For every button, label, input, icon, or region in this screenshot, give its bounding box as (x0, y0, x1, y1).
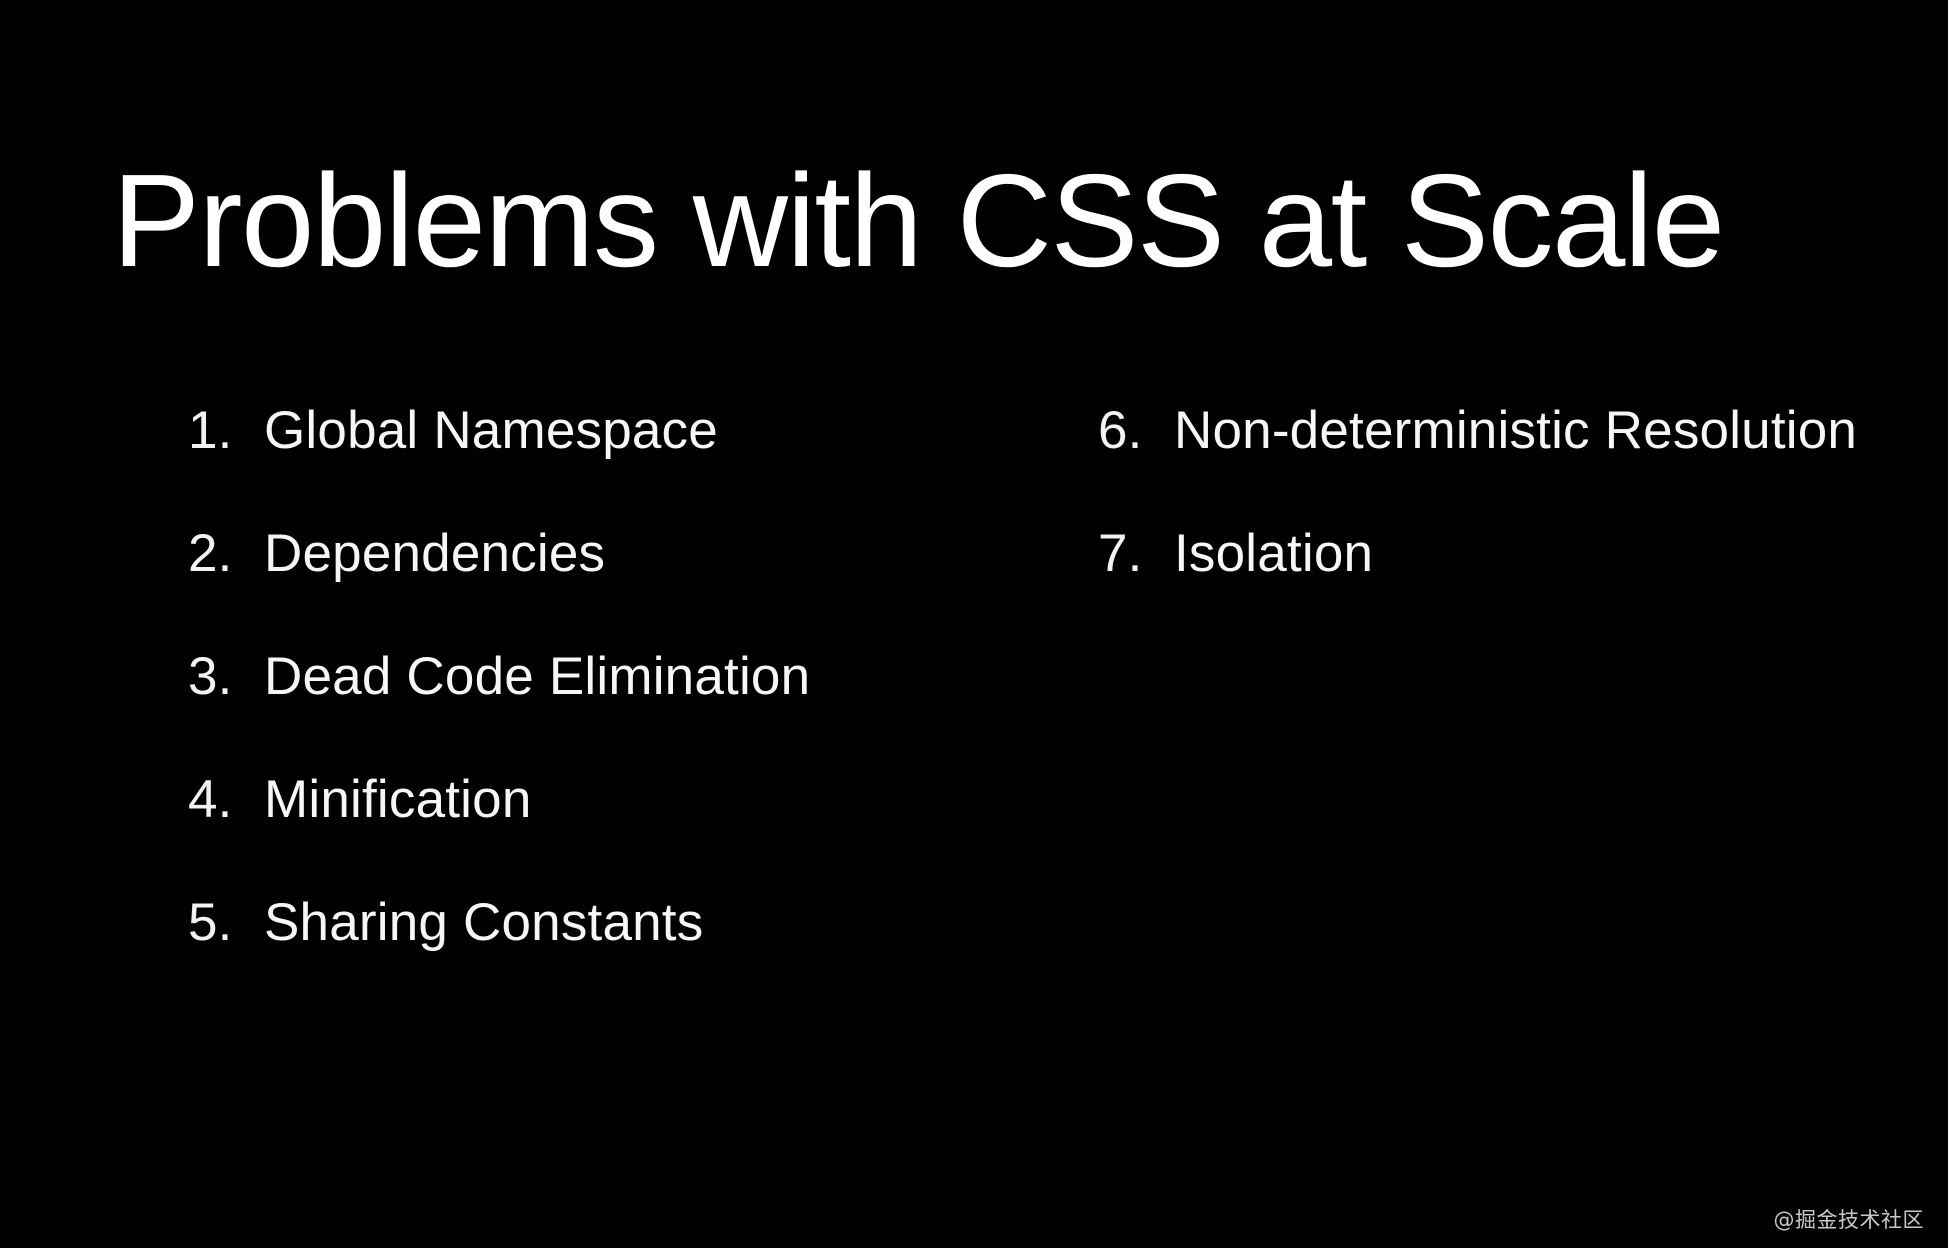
problems-list: 1. Global Namespace 2. Dependencies 3. D… (0, 0, 1948, 1248)
list-item: 7. Isolation (1098, 523, 1857, 646)
list-item: 6. Non-deterministic Resolution (1098, 400, 1857, 523)
list-item-number: 3. (188, 646, 264, 707)
list-item-label: Dead Code Elimination (264, 646, 810, 707)
list-item-number: 6. (1098, 400, 1174, 461)
list-item-label: Isolation (1174, 523, 1373, 584)
presentation-slide: Problems with CSS at Scale 1. Global Nam… (0, 0, 1948, 1248)
list-item-label: Global Namespace (264, 400, 718, 461)
problems-list-right-column: 6. Non-deterministic Resolution 7. Isola… (1098, 400, 1857, 646)
list-item-number: 4. (188, 769, 264, 830)
list-item: 4. Minification (188, 769, 810, 892)
list-item: 2. Dependencies (188, 523, 810, 646)
list-item-number: 1. (188, 400, 264, 461)
watermark: @掘金技术社区 (1774, 1204, 1925, 1234)
list-item-number: 2. (188, 523, 264, 584)
list-item-label: Non-deterministic Resolution (1174, 400, 1857, 461)
list-item: 1. Global Namespace (188, 400, 810, 523)
list-item-number: 7. (1098, 523, 1174, 584)
list-item-label: Sharing Constants (264, 892, 703, 953)
list-item: 5. Sharing Constants (188, 892, 810, 1015)
list-item-label: Minification (264, 769, 532, 830)
problems-list-left-column: 1. Global Namespace 2. Dependencies 3. D… (188, 400, 810, 1015)
list-item-number: 5. (188, 892, 264, 953)
list-item: 3. Dead Code Elimination (188, 646, 810, 769)
list-item-label: Dependencies (264, 523, 605, 584)
